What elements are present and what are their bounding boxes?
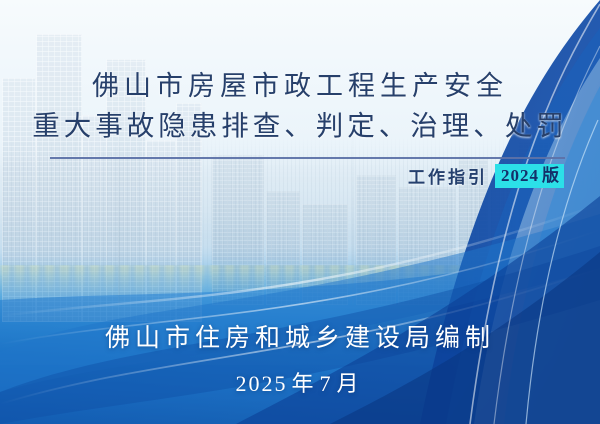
publication-date: 2025年7月 (0, 366, 600, 398)
date-month-unit: 月 (337, 371, 361, 396)
date-year-unit: 年 (291, 371, 315, 396)
date-month: 7 (320, 371, 333, 396)
guide-edition-row: 工作指引 2024版 (408, 163, 564, 188)
issuing-organization: 佛山市住房和城乡建设局编制 (0, 318, 600, 354)
title-line-2: 重大事故隐患排查、判定、治理、处罚 (0, 106, 600, 146)
ribbon-swoosh-decoration (0, 0, 600, 424)
guide-label: 工作指引 (408, 163, 488, 188)
cover-title-block: 佛山市房屋市政工程生产安全 重大事故隐患排查、判定、治理、处罚 (0, 66, 600, 146)
date-year: 2025 (235, 371, 287, 396)
title-divider-rule (50, 157, 565, 159)
badge-year: 2024 (501, 166, 539, 185)
title-line-1: 佛山市房屋市政工程生产安全 (0, 66, 600, 106)
badge-edition-suffix: 版 (542, 166, 559, 185)
cover-page: 佛山市房屋市政工程生产安全 重大事故隐患排查、判定、治理、处罚 工作指引 202… (0, 0, 600, 424)
year-edition-badge: 2024版 (495, 164, 564, 188)
